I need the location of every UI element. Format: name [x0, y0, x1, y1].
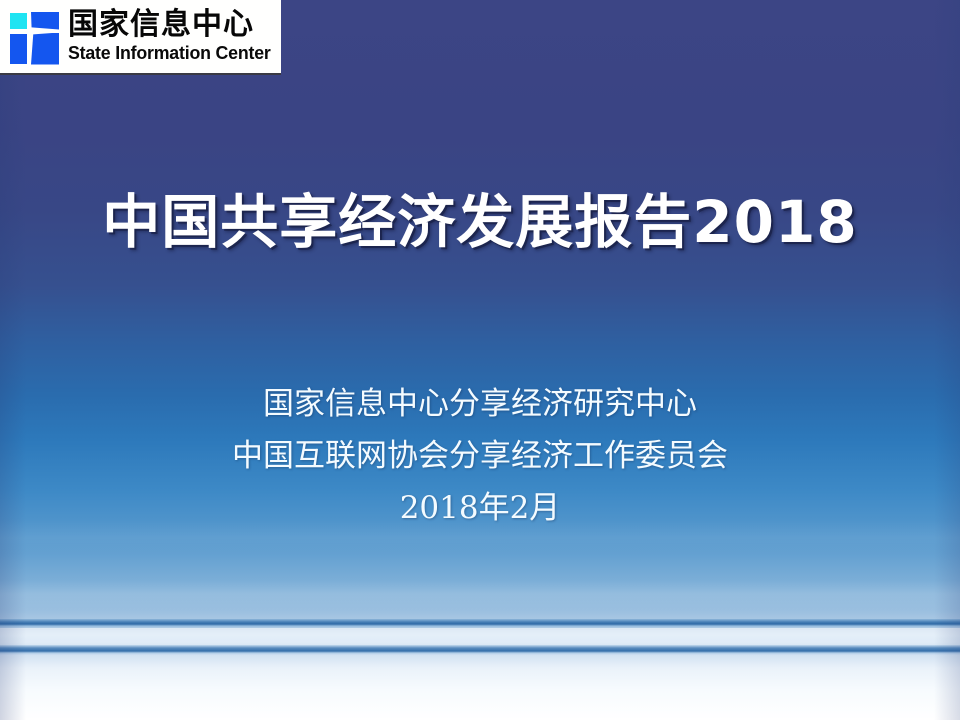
slide-title: 中国共享经济发展报告2018 — [0, 175, 960, 259]
emblem-cyan-square-icon — [10, 13, 27, 29]
emblem-top-bar-icon — [31, 12, 59, 30]
subtitle-line-1: 国家信息中心分享经济研究中心 — [0, 378, 960, 430]
organization-logo: 国家信息中心 State Information Center — [0, 0, 281, 75]
subtitle-line-2: 中国互联网协会分享经济工作委员会 — [0, 430, 960, 482]
background-gradient — [0, 0, 960, 720]
logo-wordmark: 国家信息中心 State Information Center — [68, 10, 279, 63]
subtitle-date: 2018年2月 — [0, 482, 960, 534]
logo-name-chinese: 国家信息中心 — [68, 10, 279, 40]
emblem-right-block-icon — [31, 33, 59, 65]
slide-subtitle: 国家信息中心分享经济研究中心 中国互联网协会分享经济工作委员会 2018年2月 — [0, 378, 960, 534]
emblem-left-stem-icon — [10, 34, 27, 64]
logo-name-english: State Information Center — [68, 44, 271, 63]
state-information-center-emblem-icon — [8, 9, 60, 65]
title-slide: 国家信息中心 State Information Center 中国共享经济发展… — [0, 0, 960, 720]
